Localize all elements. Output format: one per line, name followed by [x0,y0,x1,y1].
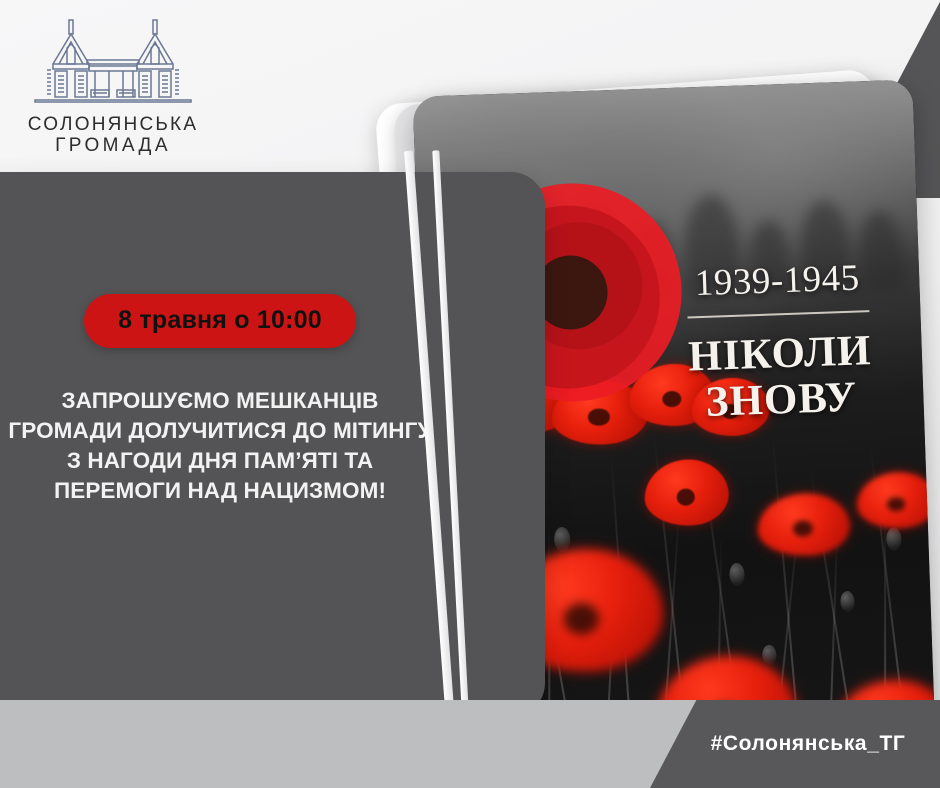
announcement-panel: 8 травня о 10:00 ЗАПРОШУЄМО МЕШКАНЦІВ ГР… [0,172,545,717]
logo-text-line2: ГРОМАДА [18,135,208,156]
memorial-caption: 1939-1945 НІКОЛИ ЗНОВУ [661,258,898,427]
caption-divider [687,310,869,318]
community-logo: СОЛОНЯНСЬКА ГРОМАДА [18,18,208,157]
never-label: НІКОЛИ [663,327,896,382]
event-date-badge: 8 травня о 10:00 [84,294,356,348]
announcement-poster: 1939-1945 НІКОЛИ ЗНОВУ 8 травня о 10:00 … [0,0,940,788]
war-years-label: 1939-1945 [661,258,894,303]
government-building-icon [29,18,197,110]
community-hashtag: #Солонянська_ТГ [685,732,906,756]
invitation-text: ЗАПРОШУЄМО МЕШКАНЦІВ ГРОМАДИ ДОЛУЧИТИСЯ … [5,386,435,507]
footer-hashtag-slab: #Солонянська_ТГ [650,700,940,788]
again-label: ЗНОВУ [665,373,898,428]
logo-text-line1: СОЛОНЯНСЬКА [18,114,208,135]
